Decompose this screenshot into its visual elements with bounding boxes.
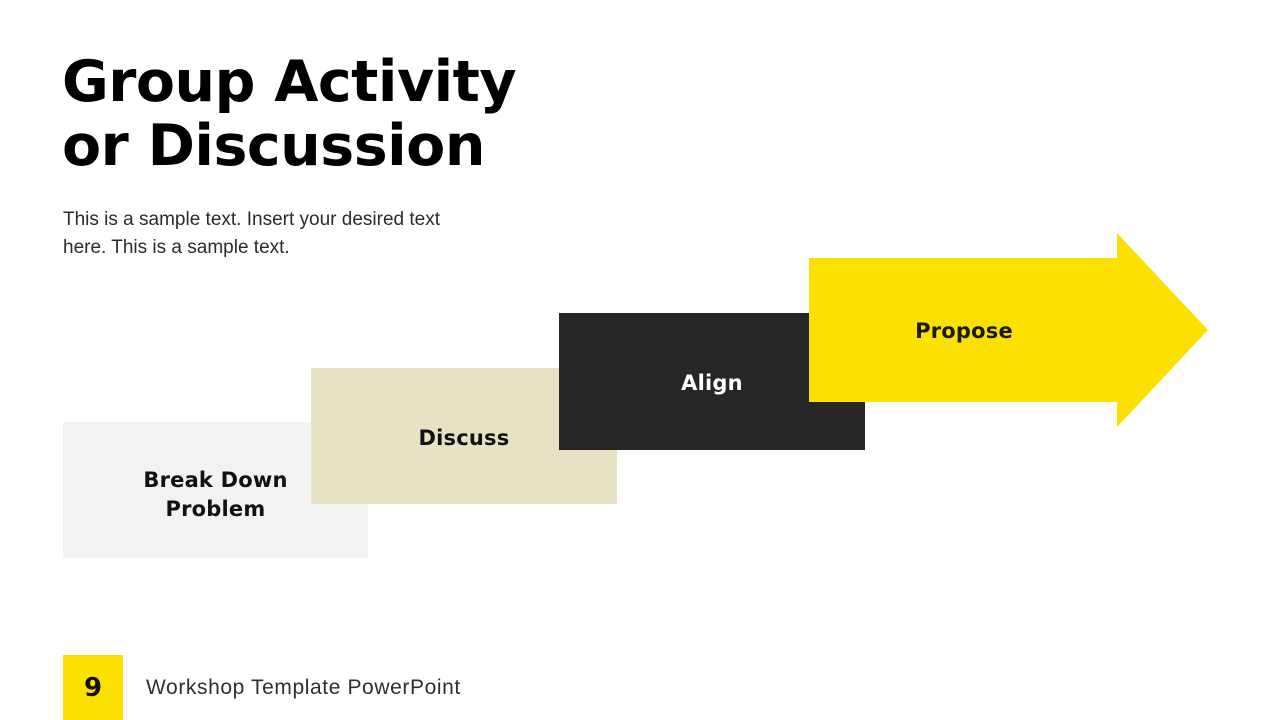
slide-footer: 9 Workshop Template PowerPoint [63,655,461,720]
slide-canvas: Group Activity or Discussion This is a s… [0,0,1280,720]
footer-label: Workshop Template PowerPoint [146,676,461,700]
step-label: Propose [809,317,1119,346]
process-diagram: Break Down Problem Discuss Align Propose [0,0,1280,720]
process-step-propose[interactable]: Propose [809,233,1209,427]
page-number-badge: 9 [63,655,123,720]
